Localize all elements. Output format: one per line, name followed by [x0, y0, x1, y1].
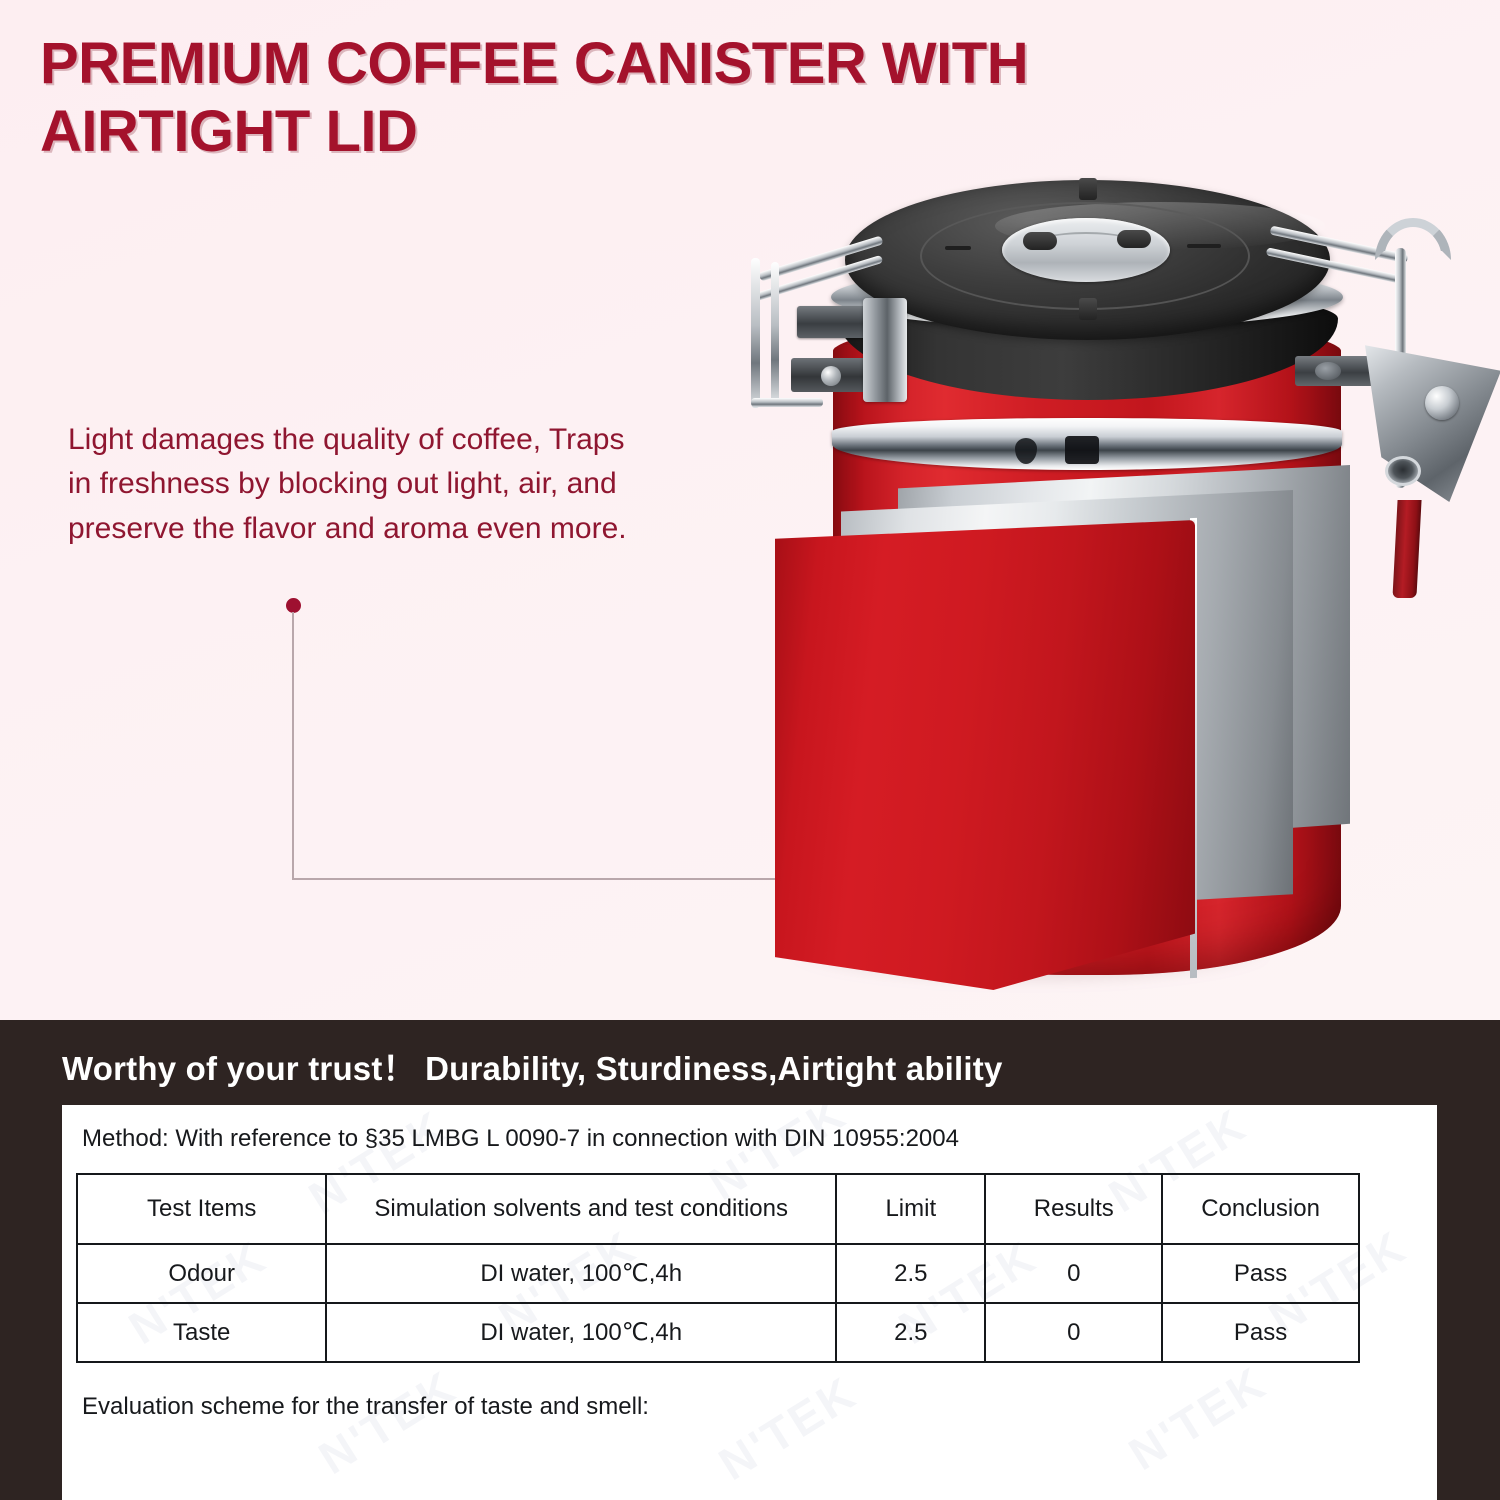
clamp-rivet	[1425, 386, 1459, 420]
bail-wire-loop	[1375, 218, 1451, 260]
report-method-line: Method: With reference to §35 LMBG L 009…	[82, 1125, 959, 1153]
test-report-panel: N'TEK N'TEK N'TEK N'TEK N'TEK N'TEK N'TE…	[62, 1105, 1437, 1500]
table-row: Odour DI water, 100℃,4h 2.5 0 Pass	[77, 1244, 1359, 1303]
cell-result: 0	[985, 1303, 1162, 1362]
hero-body-copy: Light damages the quality of coffee, Tra…	[68, 418, 648, 551]
cell-conditions: DI water, 100℃,4h	[326, 1303, 836, 1362]
report-footer-line: Evaluation scheme for the transfer of ta…	[82, 1393, 649, 1421]
clamp-tail	[1392, 500, 1421, 598]
cell-limit: 2.5	[836, 1303, 985, 1362]
bail-wire-left-lower	[751, 398, 823, 407]
lid-marking-left-icon	[945, 246, 971, 250]
cell-test-item: Odour	[77, 1244, 326, 1303]
cell-conclusion: Pass	[1162, 1303, 1359, 1362]
chrome-band-reflection-b	[1065, 436, 1099, 464]
column-header-results: Results	[985, 1174, 1162, 1244]
column-header-conclusion: Conclusion	[1162, 1174, 1359, 1244]
hero-section: PREMIUM COFFEE CANISTER WITH AIRTIGHT LI…	[0, 0, 1500, 1020]
callout-leader-line-horizontal	[292, 878, 792, 880]
trust-heading: Worthy of your trust！ Durability, Sturdi…	[62, 1042, 1003, 1090]
watermark-10: N'TEK	[1119, 1355, 1276, 1481]
cell-conclusion: Pass	[1162, 1244, 1359, 1303]
column-header-test-items: Test Items	[77, 1174, 326, 1244]
cell-conditions: DI water, 100℃,4h	[326, 1244, 836, 1303]
clamp-arm-hole	[1315, 362, 1341, 380]
clamp-lever	[1365, 342, 1500, 502]
test-results-table: Test Items Simulation solvents and test …	[76, 1173, 1360, 1363]
table-row: Taste DI water, 100℃,4h 2.5 0 Pass	[77, 1303, 1359, 1362]
page-title: PREMIUM COFFEE CANISTER WITH AIRTIGHT LI…	[40, 30, 1300, 167]
column-header-simulation: Simulation solvents and test conditions	[326, 1174, 836, 1244]
cell-test-item: Taste	[77, 1303, 326, 1362]
valve-tab-left	[1023, 232, 1057, 250]
callout-leader-line-vertical	[292, 612, 294, 880]
product-image-coffee-canister	[735, 170, 1495, 1020]
trust-section: Worthy of your trust！ Durability, Sturdi…	[0, 1020, 1500, 1500]
watermark-8: N'TEK	[309, 1359, 466, 1485]
callout-dot-icon	[286, 598, 301, 613]
red-outer-panel-layer	[775, 520, 1195, 990]
valve-tab-right	[1117, 230, 1151, 248]
column-header-limit: Limit	[836, 1174, 985, 1244]
table-header-row: Test Items Simulation solvents and test …	[77, 1174, 1359, 1244]
watermark-9: N'TEK	[709, 1365, 866, 1491]
valve-tab-bottom	[1079, 298, 1097, 320]
hinge-block	[863, 298, 907, 402]
cell-limit: 2.5	[836, 1244, 985, 1303]
valve-tab-top	[1079, 178, 1097, 200]
cell-result: 0	[985, 1244, 1162, 1303]
lid-marking-right-icon	[1187, 244, 1221, 248]
bail-wire-left-vertical-2	[771, 262, 779, 402]
hinge-stud	[821, 366, 841, 386]
bail-wire-left-vertical	[751, 258, 760, 408]
clamp-eyelet	[1385, 456, 1421, 486]
